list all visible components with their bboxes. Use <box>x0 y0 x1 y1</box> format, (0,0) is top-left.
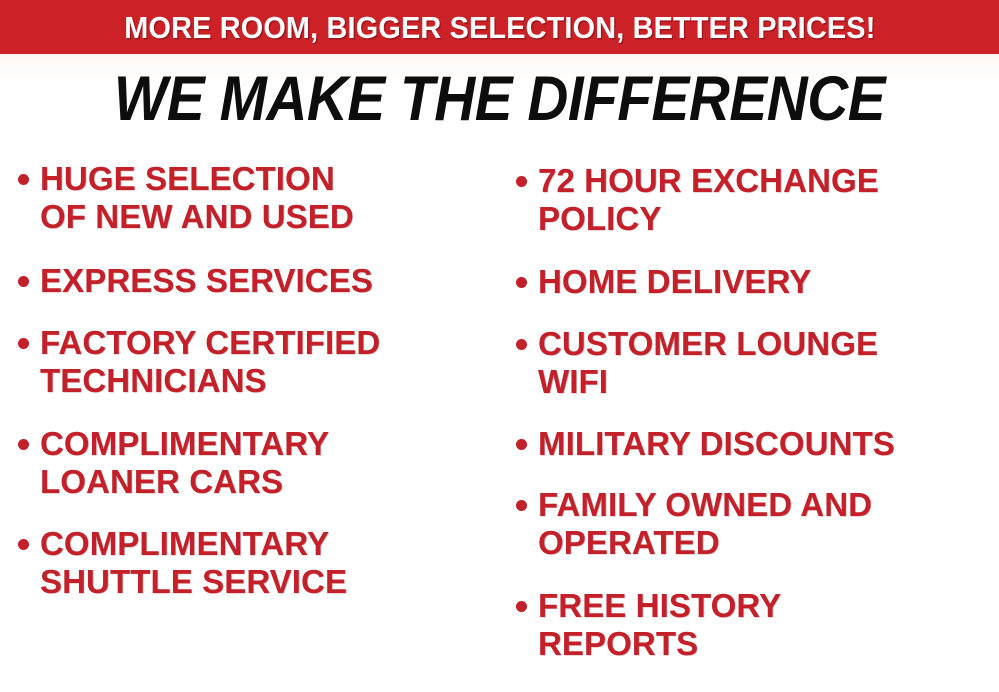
bullet-dot-icon <box>18 439 29 450</box>
list-item: FREE HISTORY REPORTS <box>516 587 781 663</box>
bullet-dot-icon <box>516 500 527 511</box>
list-item-label: CUSTOMER LOUNGE WIFI <box>538 325 878 401</box>
list-item: COMPLIMENTARY SHUTTLE SERVICE <box>18 525 347 601</box>
list-item: HUGE SELECTION OF NEW AND USED <box>18 160 354 236</box>
list-item-label: COMPLIMENTARY LOANER CARS <box>40 425 329 501</box>
bullet-dot-icon <box>516 277 527 288</box>
top-banner: MORE ROOM, BIGGER SELECTION, BETTER PRIC… <box>0 0 999 54</box>
list-item: COMPLIMENTARY LOANER CARS <box>18 425 329 501</box>
benefits-columns: HUGE SELECTION OF NEW AND USED EXPRESS S… <box>0 160 999 692</box>
list-item: 72 HOUR EXCHANGE POLICY <box>516 162 879 238</box>
list-item-label: 72 HOUR EXCHANGE POLICY <box>538 162 879 238</box>
bullet-dot-icon <box>516 601 527 612</box>
bullet-dot-icon <box>18 338 29 349</box>
list-item: HOME DELIVERY <box>516 263 811 301</box>
bullet-dot-icon <box>18 539 29 550</box>
list-item-label: FACTORY CERTIFIED TECHNICIANS <box>40 324 380 400</box>
bullet-dot-icon <box>18 174 29 185</box>
page-title: WE MAKE THE DIFFERENCE <box>50 68 949 131</box>
list-item-label: FAMILY OWNED AND OPERATED <box>538 486 872 562</box>
list-item-label: MILITARY DISCOUNTS <box>538 425 895 463</box>
list-item: FAMILY OWNED AND OPERATED <box>516 486 872 562</box>
bullet-dot-icon <box>18 276 29 287</box>
list-item-label: FREE HISTORY REPORTS <box>538 587 781 663</box>
list-item-label: HOME DELIVERY <box>538 263 811 301</box>
list-item: EXPRESS SERVICES <box>18 262 373 300</box>
bullet-dot-icon <box>516 176 527 187</box>
list-item-label: COMPLIMENTARY SHUTTLE SERVICE <box>40 525 347 601</box>
bullet-dot-icon <box>516 339 527 350</box>
list-item-label: HUGE SELECTION OF NEW AND USED <box>40 160 354 236</box>
banner-headline-text: MORE ROOM, BIGGER SELECTION, BETTER PRIC… <box>124 12 875 43</box>
list-item: FACTORY CERTIFIED TECHNICIANS <box>18 324 380 400</box>
promo-poster: MORE ROOM, BIGGER SELECTION, BETTER PRIC… <box>0 0 999 692</box>
list-item: MILITARY DISCOUNTS <box>516 425 895 463</box>
list-item-label: EXPRESS SERVICES <box>40 262 373 300</box>
bullet-dot-icon <box>516 439 527 450</box>
list-item: CUSTOMER LOUNGE WIFI <box>516 325 878 401</box>
